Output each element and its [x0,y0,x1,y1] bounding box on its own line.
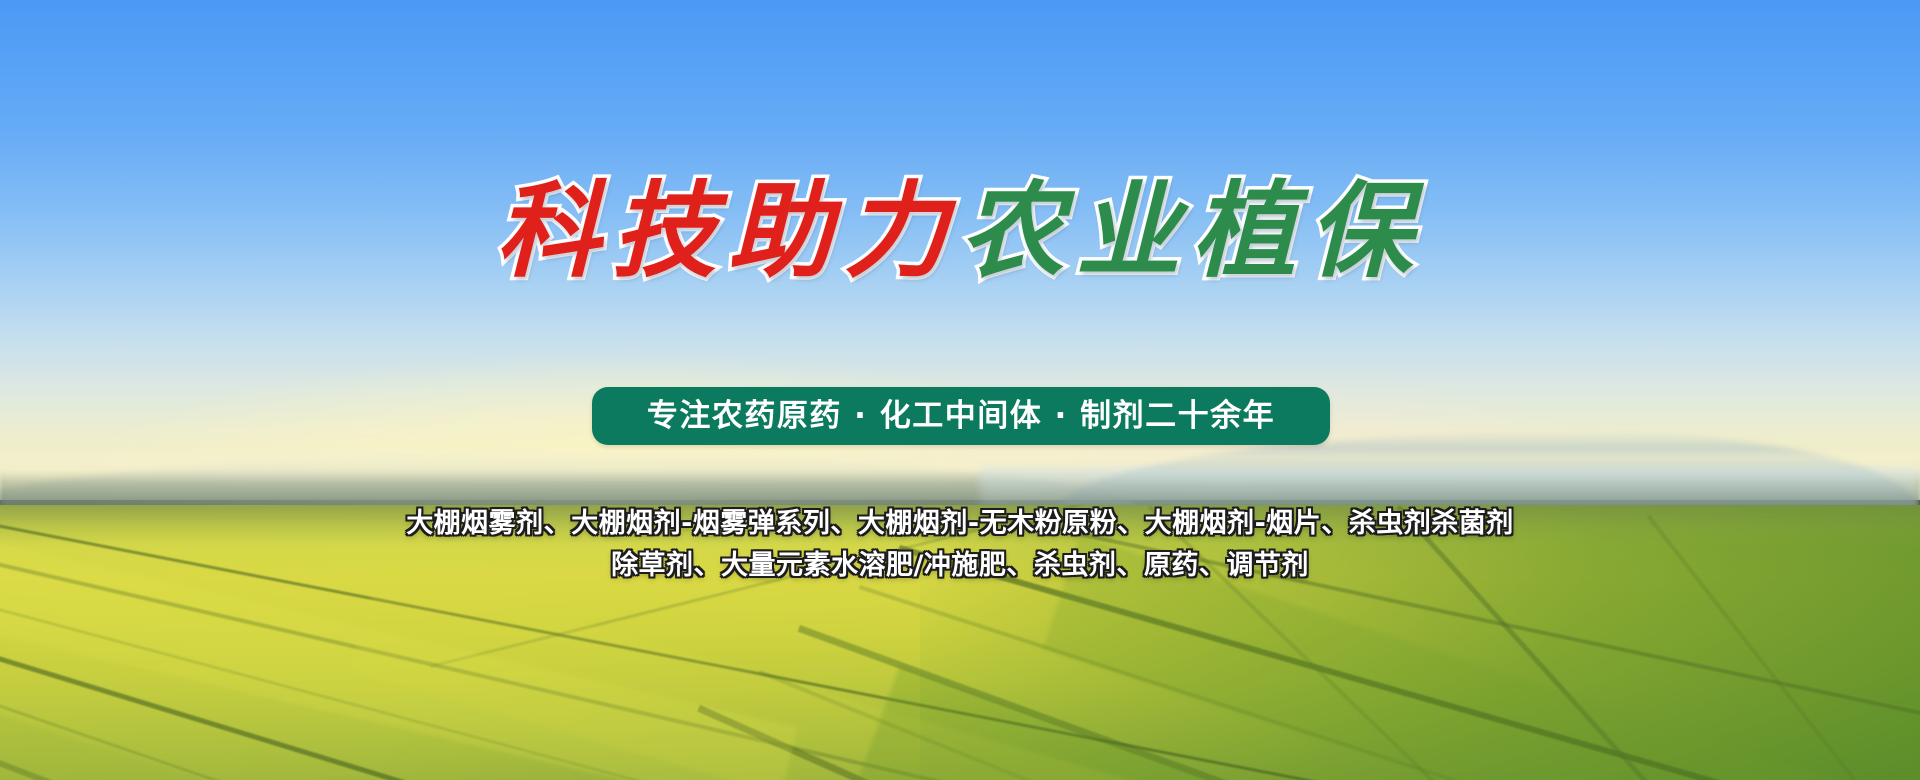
product-line-1: 大棚烟雾剂、大棚烟剂-烟雾弹系列、大棚烟剂-无木粉原粉、大棚烟剂-烟片、杀虫剂杀… [0,503,1920,545]
banner-headline: 科技助力农业植保 [0,170,1920,292]
hero-banner: 科技助力农业植保 专注农药原药 · 化工中间体 · 制剂二十余年 大棚烟雾剂、大… [0,0,1920,780]
product-list: 大棚烟雾剂、大棚烟剂-烟雾弹系列、大棚烟剂-无木粉原粉、大棚烟剂-烟片、杀虫剂杀… [0,503,1920,587]
tagline-text: 专注农药原药 · 化工中间体 · 制剂二十余年 [647,401,1275,432]
product-line-2: 除草剂、大量元素水溶肥/冲施肥、杀虫剂、原药、调节剂 [0,545,1920,587]
tagline-badge: 专注农药原药 · 化工中间体 · 制剂二十余年 [592,387,1330,445]
headline-segment-red: 科技助力 [496,170,960,292]
headline-segment-green: 农业植保 [960,170,1424,292]
